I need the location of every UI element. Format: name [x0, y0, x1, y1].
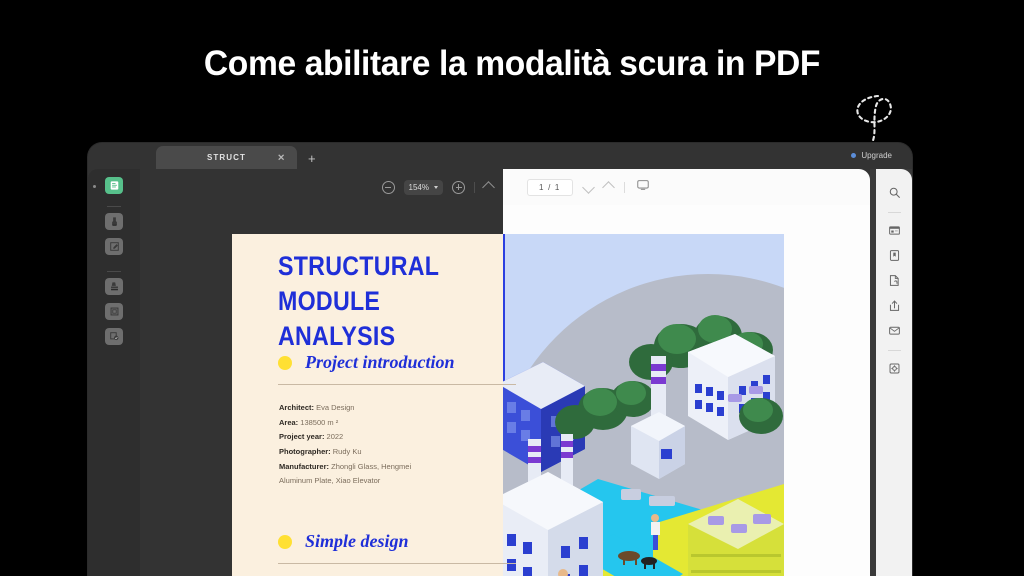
section-heading-simple-design: Simple design — [278, 531, 409, 552]
app-logo-icon[interactable] — [105, 177, 123, 194]
right-rail-divider-2 — [888, 350, 901, 351]
meta-row: Manufacturer: Zhongli Glass, Hengmei — [279, 460, 529, 475]
section-divider — [278, 384, 516, 385]
meta-key: Area: — [279, 418, 298, 427]
ocr-tool-icon[interactable] — [105, 328, 123, 345]
meta-row: Aluminum Plate, Xiao Elevator — [279, 474, 529, 489]
highlight-tool-icon[interactable] — [105, 213, 123, 230]
meta-row: Project year: 2022 — [279, 430, 529, 445]
meta-key: Project year: — [279, 432, 324, 441]
meta-value: Eva Design — [316, 403, 354, 412]
left-toolbar — [88, 169, 140, 576]
meta-value: Rudy Ku — [333, 447, 362, 456]
meta-row: Architect: Eva Design — [279, 401, 529, 416]
search-icon[interactable] — [887, 185, 902, 200]
meta-key: Manufacturer: — [279, 462, 329, 471]
tab-struct[interactable]: STRUCT ✕ — [156, 146, 297, 169]
meta-row: Photographer: Rudy Ku — [279, 445, 529, 460]
meta-value: Aluminum Plate, Xiao Elevator — [279, 476, 380, 485]
chevron-up-icon[interactable] — [602, 181, 615, 194]
zoom-in-icon[interactable] — [452, 181, 465, 194]
bullet-icon — [278, 535, 292, 549]
edit-text-icon[interactable] — [105, 238, 123, 255]
zoom-level-value: 154% — [409, 183, 429, 192]
document-canvas[interactable]: STRUCTURAL MODULE ANALYSIS Project intro… — [140, 205, 870, 576]
meta-key: Photographer: — [279, 447, 331, 456]
chevron-down-icon[interactable] — [582, 181, 595, 194]
upgrade-label: Upgrade — [861, 151, 892, 160]
document-title: STRUCTURAL MODULE ANALYSIS — [278, 249, 510, 354]
toolbar-divider — [474, 182, 475, 193]
rail-divider-2 — [107, 271, 121, 272]
zoom-level-select[interactable]: 154% — [404, 180, 443, 195]
pdf-page[interactable]: STRUCTURAL MODULE ANALYSIS Project intro… — [232, 234, 784, 576]
plus-icon[interactable]: + — [308, 152, 316, 165]
section-label: Simple design — [305, 531, 409, 552]
page-indicator[interactable]: 1 / 1 — [527, 179, 573, 196]
stamp-tool-icon[interactable] — [105, 278, 123, 295]
app-window: STRUCT ✕ + Upgrade — [88, 143, 912, 576]
toolbar-divider-light — [624, 182, 625, 193]
meta-value: 138500 m ² — [300, 418, 338, 427]
zoom-out-icon[interactable] — [382, 181, 395, 194]
settings-icon[interactable] — [887, 361, 902, 376]
mail-icon[interactable] — [887, 323, 902, 338]
crop-page-icon[interactable] — [105, 303, 123, 320]
bookmark-icon[interactable] — [887, 248, 902, 263]
bullet-icon — [278, 356, 292, 370]
upgrade-button[interactable]: Upgrade — [851, 151, 892, 160]
rail-divider — [107, 206, 121, 207]
section-label: Project introduction — [305, 352, 455, 373]
meta-key: Architect: — [279, 403, 314, 412]
tab-bar: STRUCT ✕ + Upgrade — [88, 143, 912, 169]
meta-row: Area: 138500 m ² — [279, 416, 529, 431]
chevron-down-icon — [434, 186, 438, 189]
display-mode-icon[interactable] — [636, 178, 650, 197]
document-metadata: Architect: Eva Design Area: 138500 m ² P… — [279, 401, 529, 489]
right-toolbar — [870, 169, 912, 576]
upgrade-dot-icon — [851, 153, 856, 158]
section-divider-2 — [278, 563, 516, 564]
fit-page-icon[interactable] — [482, 181, 495, 194]
window-body: 154% 1 / 1 — [88, 169, 912, 576]
page-title: Come abilitare la modalità scura in PDF — [20, 44, 1003, 84]
share-icon[interactable] — [887, 298, 902, 313]
thumbnail-icon[interactable] — [887, 223, 902, 238]
rail-indicator-dot — [93, 185, 96, 188]
meta-value: 2022 — [327, 432, 344, 441]
section-heading-project-introduction: Project introduction — [278, 352, 455, 373]
meta-value: Zhongli Glass, Hengmei — [331, 462, 411, 471]
document-toolbar: 154% 1 / 1 — [140, 169, 870, 205]
tab-label: STRUCT — [207, 153, 246, 162]
close-icon[interactable]: ✕ — [277, 153, 286, 162]
attachment-icon[interactable] — [887, 273, 902, 288]
right-rail-divider — [888, 212, 901, 213]
isometric-city-illustration — [503, 234, 784, 576]
